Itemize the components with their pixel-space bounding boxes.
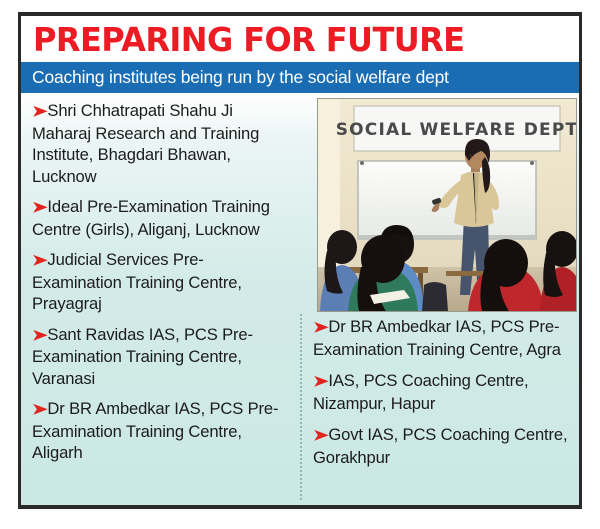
list-item-label: Govt IAS, PCS Coaching Centre, Gorakhpur	[313, 425, 567, 467]
list-item: ➤Govt IAS, PCS Coaching Centre, Gorakhpu…	[313, 424, 571, 468]
list-item: ➤IAS, PCS Coaching Centre, Nizampur, Hap…	[313, 370, 571, 414]
arrow-bullet-icon: ➤	[313, 371, 329, 393]
classroom-photo: SOCIAL WELFARE DEPT	[317, 98, 577, 312]
photo-sign-text: SOCIAL WELFARE DEPT	[336, 120, 576, 140]
list-item: ➤Dr BR Ambedkar IAS, PCS Pre-Examination…	[313, 316, 571, 360]
infographic-card: PREPARING FOR FUTURE Coaching institutes…	[18, 12, 582, 509]
classroom-photo-illustration: SOCIAL WELFARE DEPT	[318, 99, 576, 311]
list-item-label: Judicial Services Pre-Examination Traini…	[32, 250, 242, 313]
arrow-bullet-icon: ➤	[313, 425, 329, 447]
subtitle-band: Coaching institutes being run by the soc…	[21, 62, 579, 93]
content-area: ➤Shri Chhatrapati Shahu Ji Maharaj Resea…	[21, 93, 579, 505]
arrow-bullet-icon: ➤	[32, 250, 48, 272]
page-title: PREPARING FOR FUTURE	[33, 23, 464, 56]
list-item: ➤Dr BR Ambedkar IAS, PCS Pre-Examination…	[32, 398, 293, 464]
right-column-list: ➤Dr BR Ambedkar IAS, PCS Pre-Examination…	[300, 314, 579, 478]
arrow-bullet-icon: ➤	[313, 317, 329, 339]
list-item-label: Shri Chhatrapati Shahu Ji Maharaj Resear…	[32, 101, 259, 186]
list-item: ➤Sant Ravidas IAS, PCS Pre-Examination T…	[32, 324, 293, 390]
arrow-bullet-icon: ➤	[32, 325, 48, 347]
arrow-bullet-icon: ➤	[32, 399, 48, 421]
arrow-bullet-icon: ➤	[32, 197, 48, 219]
headline-band: PREPARING FOR FUTURE	[21, 16, 579, 62]
subtitle-text: Coaching institutes being run by the soc…	[32, 67, 449, 88]
arrow-bullet-icon: ➤	[32, 101, 48, 123]
photo-container: SOCIAL WELFARE DEPT	[300, 98, 579, 312]
list-item-label: Ideal Pre-Examination Training Centre (G…	[32, 197, 270, 239]
list-item: ➤Shri Chhatrapati Shahu Ji Maharaj Resea…	[32, 100, 293, 187]
list-item-label: Dr BR Ambedkar IAS, PCS Pre-Examination …	[32, 399, 278, 462]
list-item-label: IAS, PCS Coaching Centre, Nizampur, Hapu…	[313, 371, 529, 413]
left-column-list: ➤Shri Chhatrapati Shahu Ji Maharaj Resea…	[21, 93, 299, 473]
list-item-label: Sant Ravidas IAS, PCS Pre-Examination Tr…	[32, 325, 253, 388]
list-item: ➤Judicial Services Pre-Examination Train…	[32, 249, 293, 315]
list-item: ➤Ideal Pre-Examination Training Centre (…	[32, 196, 293, 240]
list-item-label: Dr BR Ambedkar IAS, PCS Pre-Examination …	[313, 317, 561, 359]
